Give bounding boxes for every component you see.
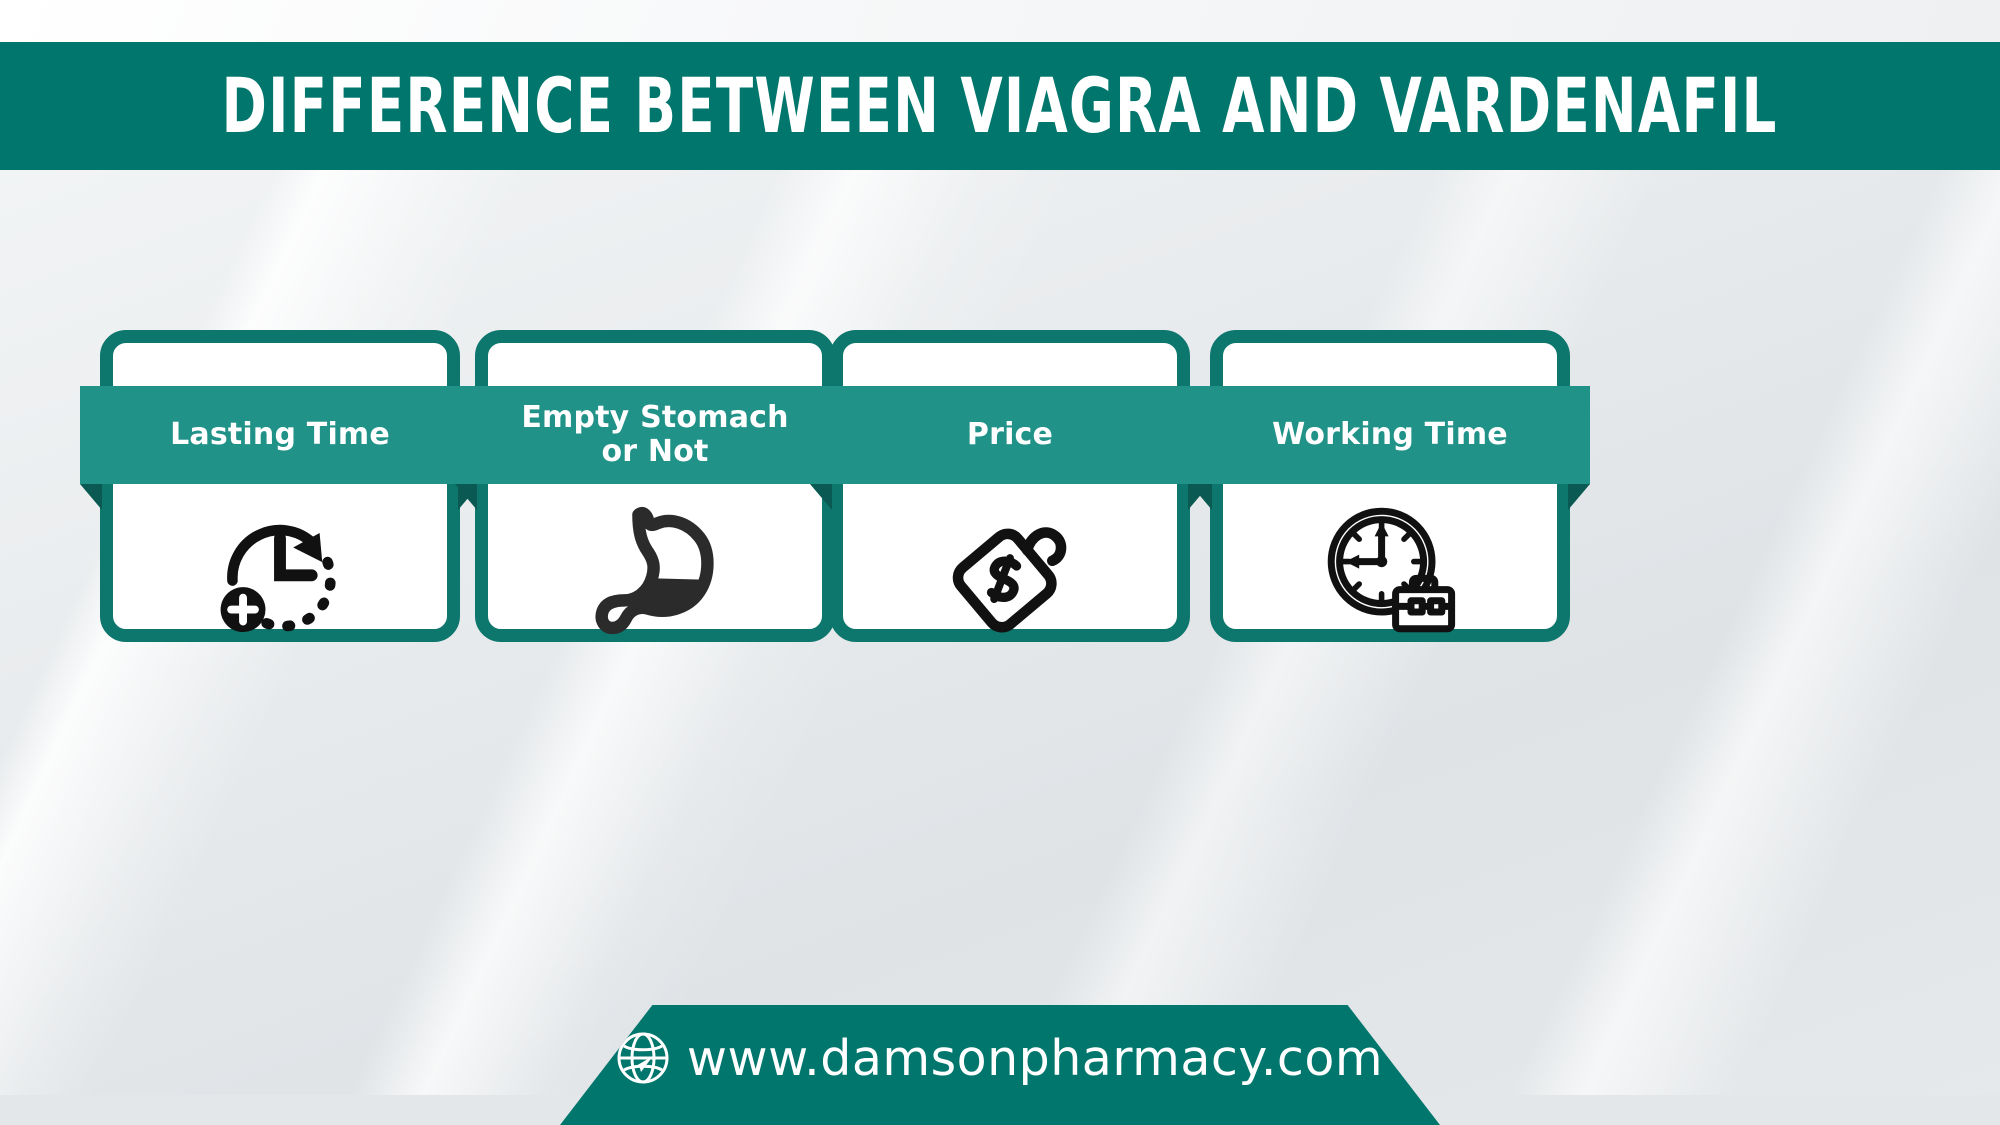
card-label: Price xyxy=(957,418,1063,453)
card-ribbon: Empty Stomach or Not xyxy=(455,386,855,484)
clock-briefcase-icon xyxy=(1210,498,1570,642)
ribbon-fold-right xyxy=(1568,484,1590,510)
card-label: Empty Stomach or Not xyxy=(511,401,798,470)
header-bar: DIFFERENCE BETWEEN VIAGRA AND VARDENAFIL xyxy=(0,42,2000,170)
price-tag-dollar-icon xyxy=(830,498,1190,642)
card-price[interactable]: Price xyxy=(810,330,1210,642)
ribbon-fold-left xyxy=(810,484,832,510)
card-ribbon: Price xyxy=(810,386,1210,484)
ribbon-fold-left xyxy=(1190,484,1212,510)
ribbon-fold-left xyxy=(455,484,477,510)
card-working-time[interactable]: Working Time xyxy=(1190,330,1590,642)
website-url[interactable]: www.damsonpharmacy.com xyxy=(687,1030,1383,1087)
ribbon-fold-left xyxy=(80,484,102,510)
card-label: Working Time xyxy=(1262,418,1518,453)
card-lasting-time[interactable]: Lasting Time xyxy=(80,330,480,642)
footer-banner: www.damsonpharmacy.com xyxy=(560,1005,1440,1125)
card-ribbon: Working Time xyxy=(1190,386,1590,484)
comparison-cards-row: Lasting Time Empty Stomach or Not xyxy=(0,330,2000,650)
card-empty-stomach-or-not[interactable]: Empty Stomach or Not xyxy=(455,330,855,642)
card-ribbon: Lasting Time xyxy=(80,386,480,484)
page-title: DIFFERENCE BETWEEN VIAGRA AND VARDENAFIL xyxy=(222,68,1778,144)
clock-plus-icon xyxy=(100,498,460,642)
stomach-icon xyxy=(475,498,835,642)
card-label: Lasting Time xyxy=(160,418,400,453)
background-top-strip xyxy=(0,0,2000,42)
